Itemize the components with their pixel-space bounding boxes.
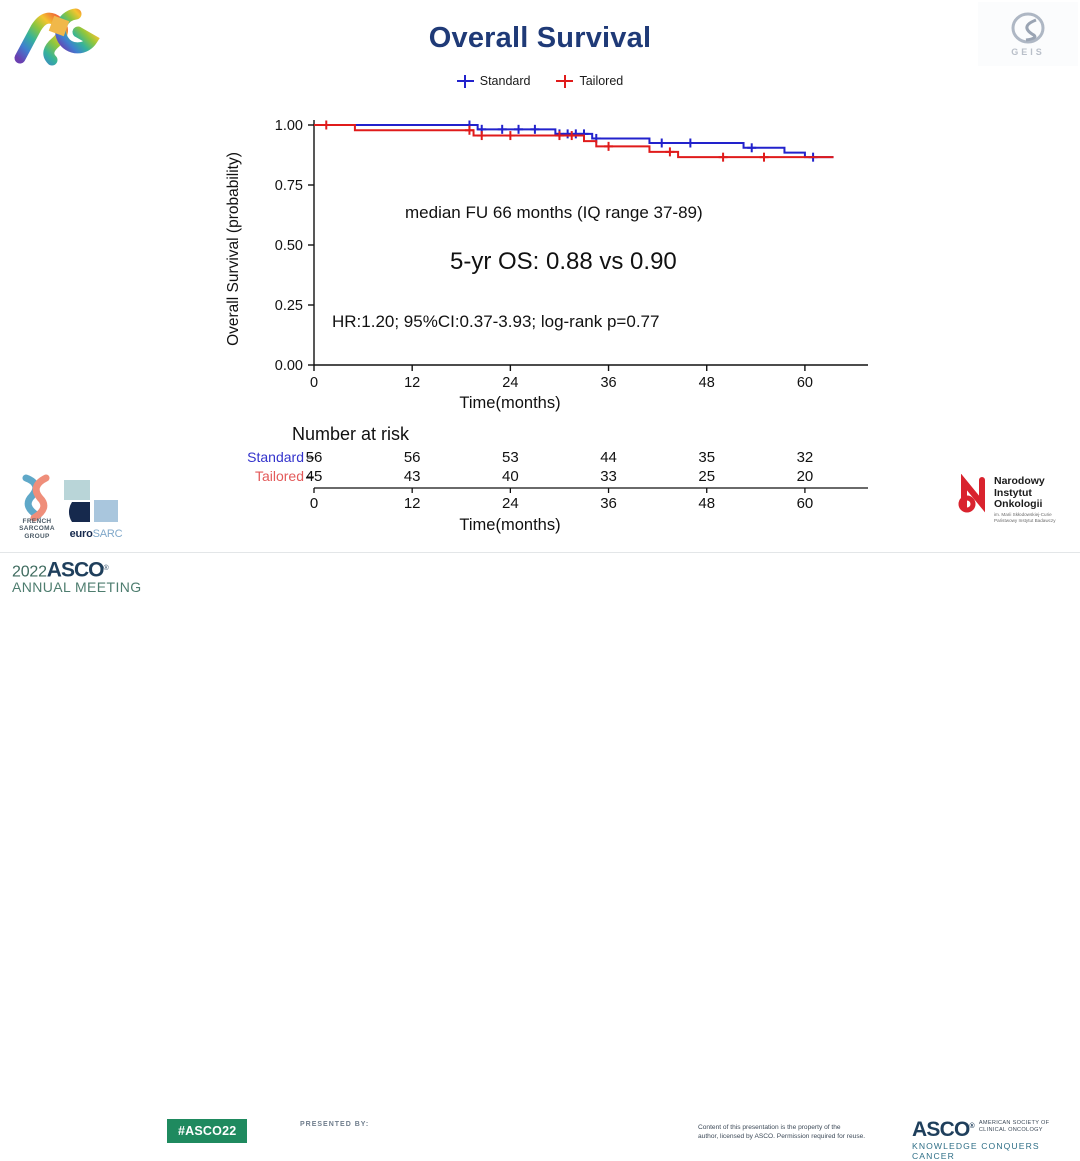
french-sarcoma-group-logo: FRENCH SARCOMA GROUP — [8, 472, 66, 540]
asco-tagline: KNOWLEDGE CONQUERS CANCER — [912, 1141, 1080, 1161]
nio-mark-icon — [958, 474, 992, 514]
svg-text:12: 12 — [404, 375, 420, 391]
plus-marker-icon — [556, 75, 573, 88]
number-at-risk-table: Number at risk Standard565653443532Tailo… — [190, 424, 870, 540]
plus-marker-icon — [457, 75, 474, 88]
svg-text:12: 12 — [404, 495, 421, 512]
svg-text:36: 36 — [600, 495, 617, 512]
annotation-hazard-ratio: HR:1.20; 95%CI:0.37-3.93; log-rank p=0.7… — [332, 312, 659, 332]
asco-sub-2: CLINICAL ONCOLOGY — [979, 1127, 1043, 1133]
svg-text:53: 53 — [502, 449, 519, 466]
svg-text:0: 0 — [310, 495, 318, 512]
asco-brand: ASCO® — [912, 1117, 974, 1140]
rights-line-2: author, licensed by ASCO. Permission req… — [698, 1132, 865, 1141]
legend-item-standard: Standard — [457, 74, 531, 88]
hashtag-badge: #ASCO22 — [167, 1119, 247, 1143]
svg-text:48: 48 — [698, 495, 715, 512]
rights-statement: Content of this presentation is the prop… — [698, 1123, 865, 1141]
svg-text:0.75: 0.75 — [275, 178, 303, 194]
svg-text:Tailored: Tailored — [255, 468, 304, 484]
y-axis-title: Overall Survival (probability) — [225, 119, 243, 379]
fsg-caption: FRENCH SARCOMA GROUP — [8, 518, 66, 541]
svg-text:24: 24 — [502, 495, 519, 512]
risk-table-svg: Standard565653443532Tailored454340332520… — [190, 424, 870, 516]
svg-text:56: 56 — [404, 449, 421, 466]
svg-text:56: 56 — [306, 449, 323, 466]
svg-text:45: 45 — [306, 468, 323, 485]
asco-trademark: ® — [969, 1123, 973, 1130]
slide-footer: 2022ASCO® ANNUAL MEETING #ASCO22 PRESENT… — [0, 552, 1080, 609]
svg-text:44: 44 — [600, 449, 617, 466]
svg-text:0.50: 0.50 — [275, 238, 303, 254]
svg-text:0: 0 — [310, 375, 318, 391]
meeting-year: 2022 — [12, 563, 47, 580]
eurosarc-mark-icon — [62, 478, 124, 524]
annotation-five-year-os: 5-yr OS: 0.88 vs 0.90 — [450, 248, 677, 276]
svg-text:48: 48 — [699, 375, 715, 391]
eurosarc-suffix: SARC — [93, 528, 123, 540]
svg-text:Standard: Standard — [247, 449, 304, 465]
asco-annual-meeting-logo: 2022ASCO® ANNUAL MEETING — [12, 561, 142, 595]
meeting-trademark: ® — [103, 565, 108, 572]
chart-legend: Standard Tailored — [0, 74, 1080, 88]
meeting-brand: ASCO — [47, 558, 104, 581]
svg-text:20: 20 — [797, 468, 814, 485]
svg-text:36: 36 — [600, 375, 616, 391]
narodowy-instytut-onkologii-logo: Narodowy Instytut Onkologii im. Marii Sk… — [958, 474, 1078, 530]
svg-text:35: 35 — [698, 449, 715, 466]
fsg-line-1: FRENCH — [23, 518, 52, 525]
asco-logo: ASCO® AMERICAN SOCIETY OF CLINICAL ONCOL… — [912, 1117, 1080, 1161]
svg-text:0.25: 0.25 — [275, 298, 303, 314]
nio-line-3: Onkologii — [994, 499, 1056, 511]
svg-text:1.00: 1.00 — [275, 118, 303, 134]
asco-sub-1: AMERICAN SOCIETY OF — [979, 1120, 1050, 1126]
fsg-line-3: GROUP — [24, 533, 49, 540]
legend-label-tailored: Tailored — [579, 74, 623, 88]
legend-label-standard: Standard — [480, 74, 531, 88]
svg-text:0.00: 0.00 — [275, 358, 303, 374]
slide-canvas: GEIS Overall Survival Standard Tailored … — [0, 0, 1080, 608]
svg-text:32: 32 — [797, 449, 814, 466]
svg-text:24: 24 — [502, 375, 518, 391]
asco-subtitle: AMERICAN SOCIETY OF CLINICAL ONCOLOGY — [979, 1117, 1050, 1134]
svg-text:43: 43 — [404, 468, 421, 485]
survival-plot: 0.000.250.500.751.0001224364860 Overall … — [190, 100, 870, 420]
risk-x-axis-title: Time(months) — [310, 516, 710, 535]
eurosarc-prefix: euro — [70, 528, 93, 540]
legend-item-tailored: Tailored — [556, 74, 623, 88]
nio-wordmark: Narodowy Instytut Onkologii im. Marii Sk… — [994, 476, 1056, 524]
meeting-subtitle: ANNUAL MEETING — [12, 580, 142, 595]
page-title: Overall Survival — [0, 22, 1080, 55]
svg-text:33: 33 — [600, 468, 617, 485]
eurosarc-wordmark: euroSARC — [62, 528, 130, 540]
eurosarc-logo: euroSARC — [62, 478, 130, 540]
nio-line-1: Narodowy — [994, 476, 1056, 488]
annotation-median-followup: median FU 66 months (IQ range 37-89) — [405, 203, 703, 223]
nio-sub-1: im. Marii Skłodowskiej-Curie — [994, 512, 1056, 518]
rights-line-1: Content of this presentation is the prop… — [698, 1123, 865, 1132]
svg-text:25: 25 — [698, 468, 715, 485]
nio-sub-2: Państwowy Instytut Badawczy — [994, 518, 1056, 524]
svg-text:40: 40 — [502, 468, 519, 485]
fsg-line-2: SARCOMA — [19, 525, 55, 532]
x-axis-title: Time(months) — [310, 394, 710, 413]
svg-text:60: 60 — [797, 375, 813, 391]
presented-by-label: PRESENTED BY: — [300, 1121, 369, 1128]
svg-text:60: 60 — [797, 495, 814, 512]
